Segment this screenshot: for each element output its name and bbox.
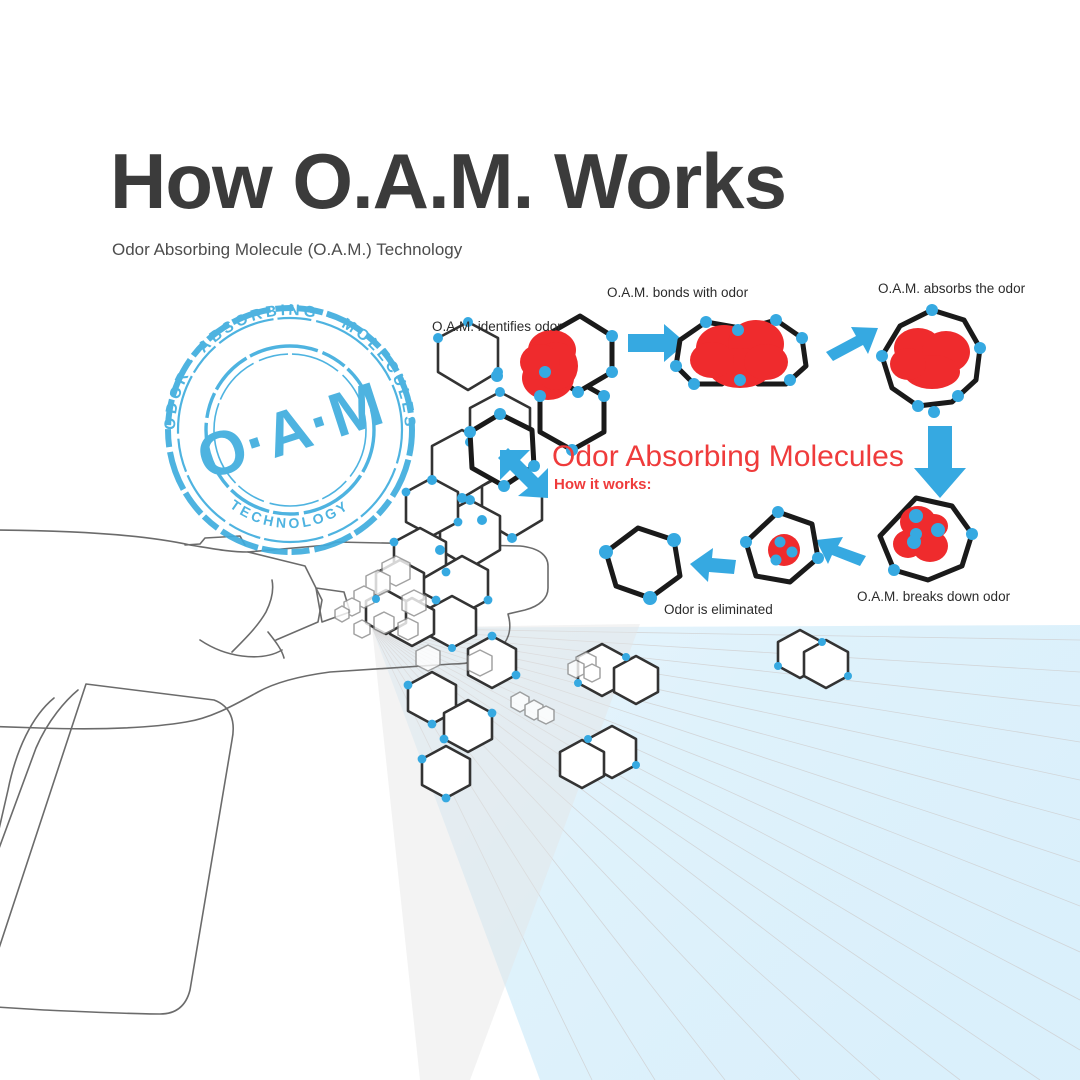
step-3-molecule	[876, 304, 986, 418]
step-4-caption: O.A.M. breaks down odor	[857, 589, 1010, 604]
odor-blob-step1	[520, 330, 578, 400]
callout-heading: Odor Absorbing Molecules	[552, 440, 904, 474]
callout-subheading: How it works:	[554, 476, 652, 493]
step-2-caption: O.A.M. bonds with odor	[607, 285, 748, 300]
arrow-step3-to-step4	[914, 426, 966, 498]
step-6-molecule	[599, 528, 681, 605]
page-title: How O.A.M. Works	[110, 142, 786, 220]
arrow-step2-to-step3	[826, 327, 878, 361]
step-3-caption: O.A.M. absorbs the odor	[878, 281, 1025, 296]
step-5-molecule	[740, 506, 824, 582]
step-1-caption: O.A.M. identifies odor	[432, 319, 562, 334]
arrow-step4-to-step5	[816, 537, 866, 566]
page-subtitle: Odor Absorbing Molecule (O.A.M.) Technol…	[112, 240, 462, 260]
arrow-step5-to-step6	[690, 548, 736, 582]
step-5-caption: Odor is eliminated	[664, 602, 773, 617]
step-4-molecule	[880, 498, 978, 580]
infographic-canvas: ODOR · ABSORBING · MOLECULES TECHNOLOGY …	[0, 0, 1080, 1080]
step-2-molecule	[670, 314, 808, 390]
